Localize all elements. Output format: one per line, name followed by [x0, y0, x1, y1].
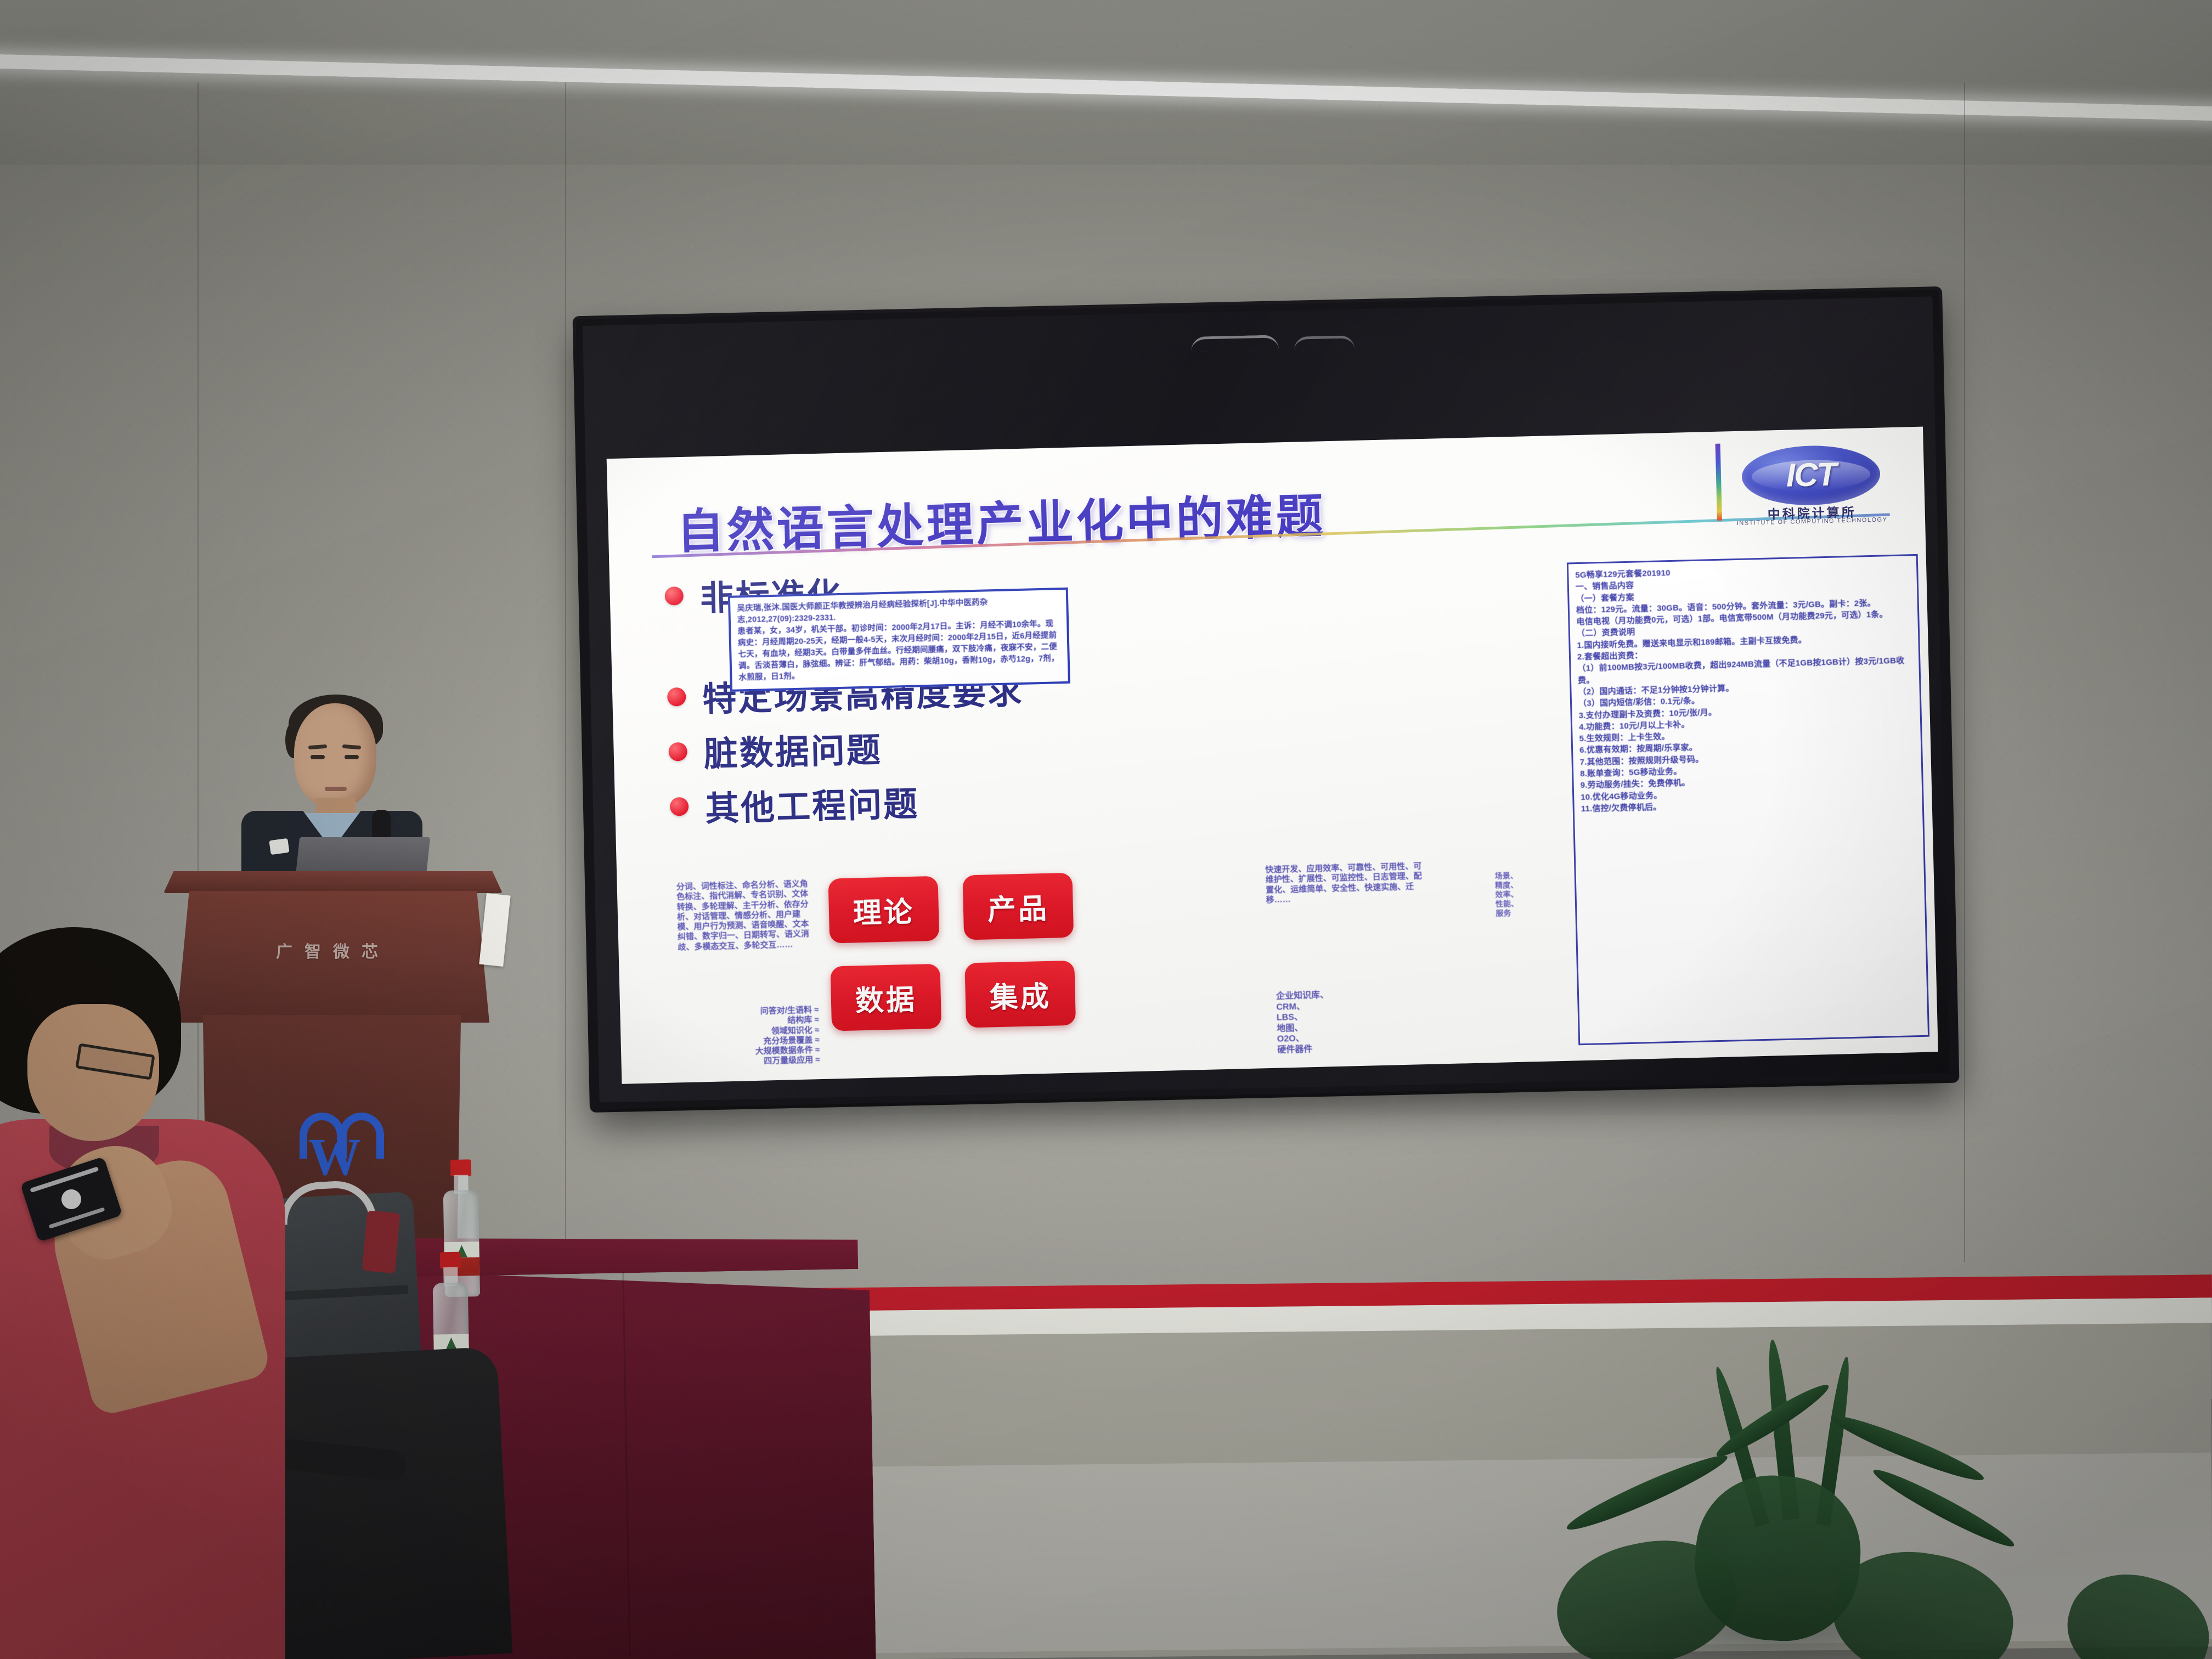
document-inner-callout: 吴庆瑞,张沐.国医大师颜正华教授辨治月经病经验探析[J].中华中医药杂志,201…	[728, 588, 1070, 692]
slide-title: 自然语言处理产业化中的难题	[676, 477, 1327, 562]
micro-text-left-top: 分词、词性标注、命名分析、语义角色标注、指代消解、专名识别、文体转换、多轮理解、…	[676, 879, 815, 952]
speaker-head	[294, 703, 376, 808]
palm-foliage-mass	[2055, 1559, 2212, 1659]
bullet-dot-icon	[664, 586, 684, 606]
backpack-red-accent	[362, 1210, 400, 1273]
logo-acronym: ICT	[1731, 442, 1891, 507]
micro-text-left-bottom: 问答对/生语料 ≈ 结构库 ≈ 领域知识化 ≈ 充分场景覆盖 ≈ 大规模数据条件…	[687, 1005, 820, 1069]
micro-text-right-top: 快速开发、应用效率、可靠性、可用性、可维护性、扩展性、可监控性、日志管理、配置化…	[1265, 861, 1425, 905]
speaker-eye	[311, 755, 325, 759]
micro-text-far-right: 场景、 精度、 效率、 性能、 服务	[1495, 870, 1567, 919]
callout-case-line: 患者某，女，34岁，机关干部。初诊时间：2000年2月17日。主诉：月经不调10…	[737, 618, 1061, 684]
tv-sensor-arc-icon	[1294, 335, 1355, 350]
slide-canvas: 自然语言处理产业化中的难题 ICT 中科院计算所 INSTITUTE OF CO…	[607, 427, 1938, 1084]
tile-data: 数据	[830, 964, 941, 1031]
ict-logo: ICT 中科院计算所 INSTITUTE OF COMPUTING TECHNO…	[1731, 442, 1893, 528]
tv-sensor-arc-icon	[1191, 335, 1279, 351]
rainbow-bar-icon	[1716, 444, 1722, 521]
bullet-dot-icon	[670, 797, 689, 816]
tv-screen: 自然语言处理产业化中的难题 ICT 中科院计算所 INSTITUTE OF CO…	[583, 296, 1949, 1102]
speaker-badge	[269, 838, 289, 855]
conference-room-photo: 自然语言处理产业化中的难题 ICT 中科院计算所 INSTITUTE OF CO…	[0, 0, 2212, 1659]
tile-theory: 理论	[828, 876, 939, 944]
micro-text-right-bottom: 企业知识库、 CRM、 LBS、 地图、 O2O、 硬件器件	[1276, 988, 1415, 1056]
camera-lens-icon	[59, 1187, 83, 1211]
presentation-display[interactable]: 自然语言处理产业化中的难题 ICT 中科院计算所 INSTITUTE OF CO…	[576, 290, 1956, 1109]
palm-frond	[1869, 1463, 2018, 1554]
pine-tree-icon	[445, 1338, 456, 1350]
podium-top-surface	[163, 871, 503, 893]
bullet-item-level1: 其他工程问题	[669, 766, 1307, 831]
speaker-eye	[345, 755, 359, 759]
palm-frond	[1827, 1408, 1988, 1488]
bottle-cap	[450, 1159, 472, 1176]
bullet-dot-icon	[668, 742, 687, 761]
audience-member-foreground	[0, 911, 329, 1659]
bullet-label: 其他工程问题	[704, 776, 919, 831]
wall-seam	[565, 82, 566, 1262]
bottle-cap	[440, 1252, 461, 1269]
document-example-panel: 5G畅享129元套餐201910 一、销售品内容 （一）套餐方案 档位：129元…	[1567, 554, 1929, 1045]
tile-integration: 集成	[964, 961, 1076, 1028]
wall-seam	[1964, 82, 1965, 1262]
speaker-mouth	[325, 787, 347, 791]
tile-product: 产品	[962, 873, 1074, 940]
bullet-dot-icon	[667, 687, 686, 707]
bullet-label: 脏数据问题	[703, 722, 883, 776]
potted-palm-plant	[1404, 1333, 2212, 1659]
bullet-item-level1: 脏数据问题	[668, 712, 1306, 776]
podium-papers	[479, 893, 510, 967]
